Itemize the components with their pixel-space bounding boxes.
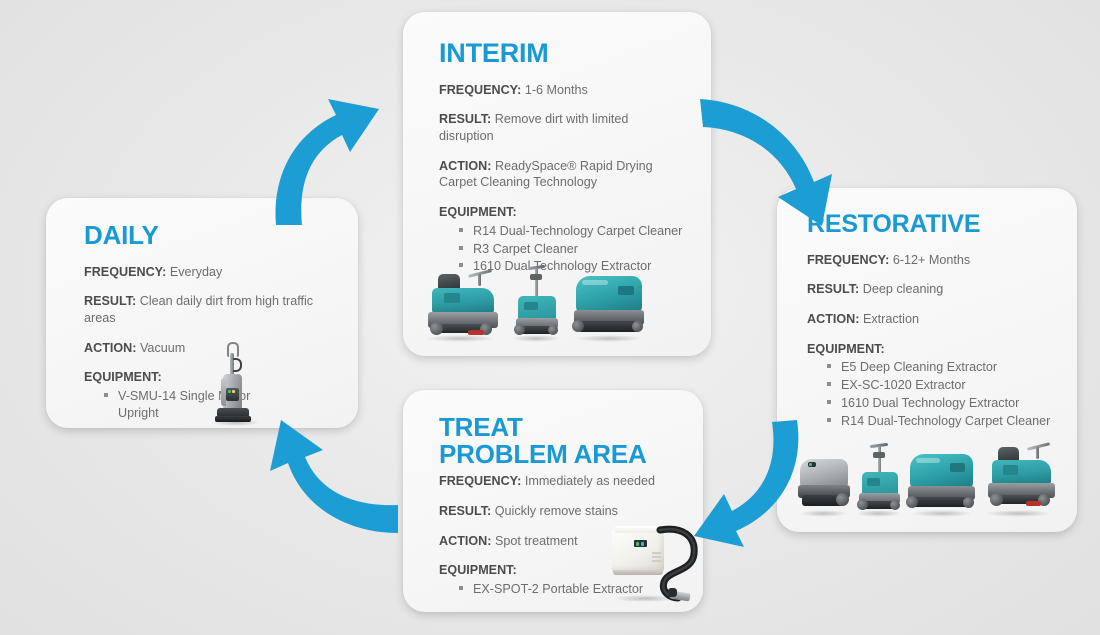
- result-value: Deep cleaning: [863, 282, 944, 296]
- machine-rider-scrubber: [418, 266, 502, 342]
- equipment-label: EQUIPMENT:: [84, 370, 162, 384]
- frequency-label: FREQUENCY:: [439, 474, 521, 488]
- card-restorative-action: ACTION: Extraction: [807, 311, 1053, 328]
- card-daily[interactable]: DAILY FREQUENCY: Everyday RESULT: Clean …: [46, 198, 358, 428]
- equipment-image-daily: [203, 340, 269, 426]
- frequency-value: Everyday: [170, 265, 223, 279]
- arrow-restorative-to-treat: [692, 418, 832, 548]
- infographic-canvas: DAILY FREQUENCY: Everyday RESULT: Clean …: [0, 0, 1100, 635]
- card-restorative-equipment-heading: EQUIPMENT:: [807, 341, 1053, 358]
- equipment-label: EQUIPMENT:: [439, 563, 517, 577]
- card-daily-frequency: FREQUENCY: Everyday: [84, 264, 336, 281]
- action-label: ACTION:: [439, 159, 491, 173]
- card-interim-action: ACTION: ReadySpace® Rapid Drying Carpet …: [439, 158, 683, 191]
- machine-rider-carpet-cleaner: [979, 441, 1058, 517]
- equipment-label: EQUIPMENT:: [439, 205, 517, 219]
- action-label: ACTION:: [807, 312, 859, 326]
- frequency-value: 1-6 Months: [525, 83, 588, 97]
- frequency-label: FREQUENCY:: [439, 83, 521, 97]
- machine-upright-vacuum: [203, 340, 269, 426]
- result-label: RESULT:: [84, 294, 136, 308]
- card-treat-title-line1: TREAT: [439, 412, 523, 442]
- machine-compact-extractor: [852, 443, 906, 517]
- action-label: ACTION:: [84, 341, 136, 355]
- result-label: RESULT:: [439, 504, 491, 518]
- frequency-label: FREQUENCY:: [84, 265, 166, 279]
- result-label: RESULT:: [439, 112, 491, 126]
- card-treat-title: TREAT PROBLEM AREA: [421, 414, 685, 467]
- card-interim-title: INTERIM: [421, 40, 691, 68]
- equipment-image-interim: [418, 262, 648, 342]
- card-interim-frequency: FREQUENCY: 1-6 Months: [439, 82, 683, 99]
- card-restorative-frequency: FREQUENCY: 6-12+ Months: [807, 252, 1053, 269]
- card-daily-result: RESULT: Clean daily dirt from high traff…: [84, 293, 336, 326]
- action-value: Extraction: [863, 312, 919, 326]
- equipment-list-item: E5 Deep Cleaning Extractor: [827, 359, 1053, 376]
- arrow-treat-to-daily: [255, 415, 400, 545]
- equipment-list-item: R14 Dual-Technology Carpet Cleaner: [459, 223, 683, 240]
- machine-compact-carpet-cleaner: [508, 264, 564, 342]
- frequency-label: FREQUENCY:: [807, 253, 889, 267]
- action-value: Vacuum: [140, 341, 185, 355]
- result-value: Quickly remove stains: [495, 504, 618, 518]
- card-treat-frequency: FREQUENCY: Immediately as needed: [439, 473, 679, 490]
- arrow-interim-to-restorative: [698, 96, 838, 231]
- card-treat-result: RESULT: Quickly remove stains: [439, 503, 679, 520]
- machine-walk-behind-carpet-cleaner: [570, 270, 648, 342]
- equipment-list-item: 1610 Dual Technology Extractor: [827, 395, 1053, 412]
- machine-dual-technology-extractor: [905, 449, 978, 517]
- result-label: RESULT:: [807, 282, 859, 296]
- equipment-label: EQUIPMENT:: [807, 342, 885, 356]
- arrow-daily-to-interim: [258, 92, 408, 227]
- equipment-list-item: R3 Carpet Cleaner: [459, 241, 683, 258]
- action-value: Spot treatment: [495, 534, 578, 548]
- frequency-value: 6-12+ Months: [893, 253, 970, 267]
- equipment-list-item: EX-SC-1020 Extractor: [827, 377, 1053, 394]
- card-interim-result: RESULT: Remove dirt with limited disrupt…: [439, 111, 683, 144]
- card-restorative-equipment-list: E5 Deep Cleaning ExtractorEX-SC-1020 Ext…: [807, 359, 1053, 429]
- equipment-image-restorative: [796, 437, 1058, 517]
- frequency-value: Immediately as needed: [525, 474, 655, 488]
- card-interim-equipment-heading: EQUIPMENT:: [439, 204, 683, 221]
- equipment-image-treat: [608, 518, 700, 604]
- card-treat-title-line2: PROBLEM AREA: [439, 439, 647, 469]
- action-label: ACTION:: [439, 534, 491, 548]
- card-restorative-result: RESULT: Deep cleaning: [807, 281, 1053, 298]
- equipment-list-item: R14 Dual-Technology Carpet Cleaner: [827, 413, 1053, 430]
- machine-portable-spot-extractor: [608, 518, 700, 604]
